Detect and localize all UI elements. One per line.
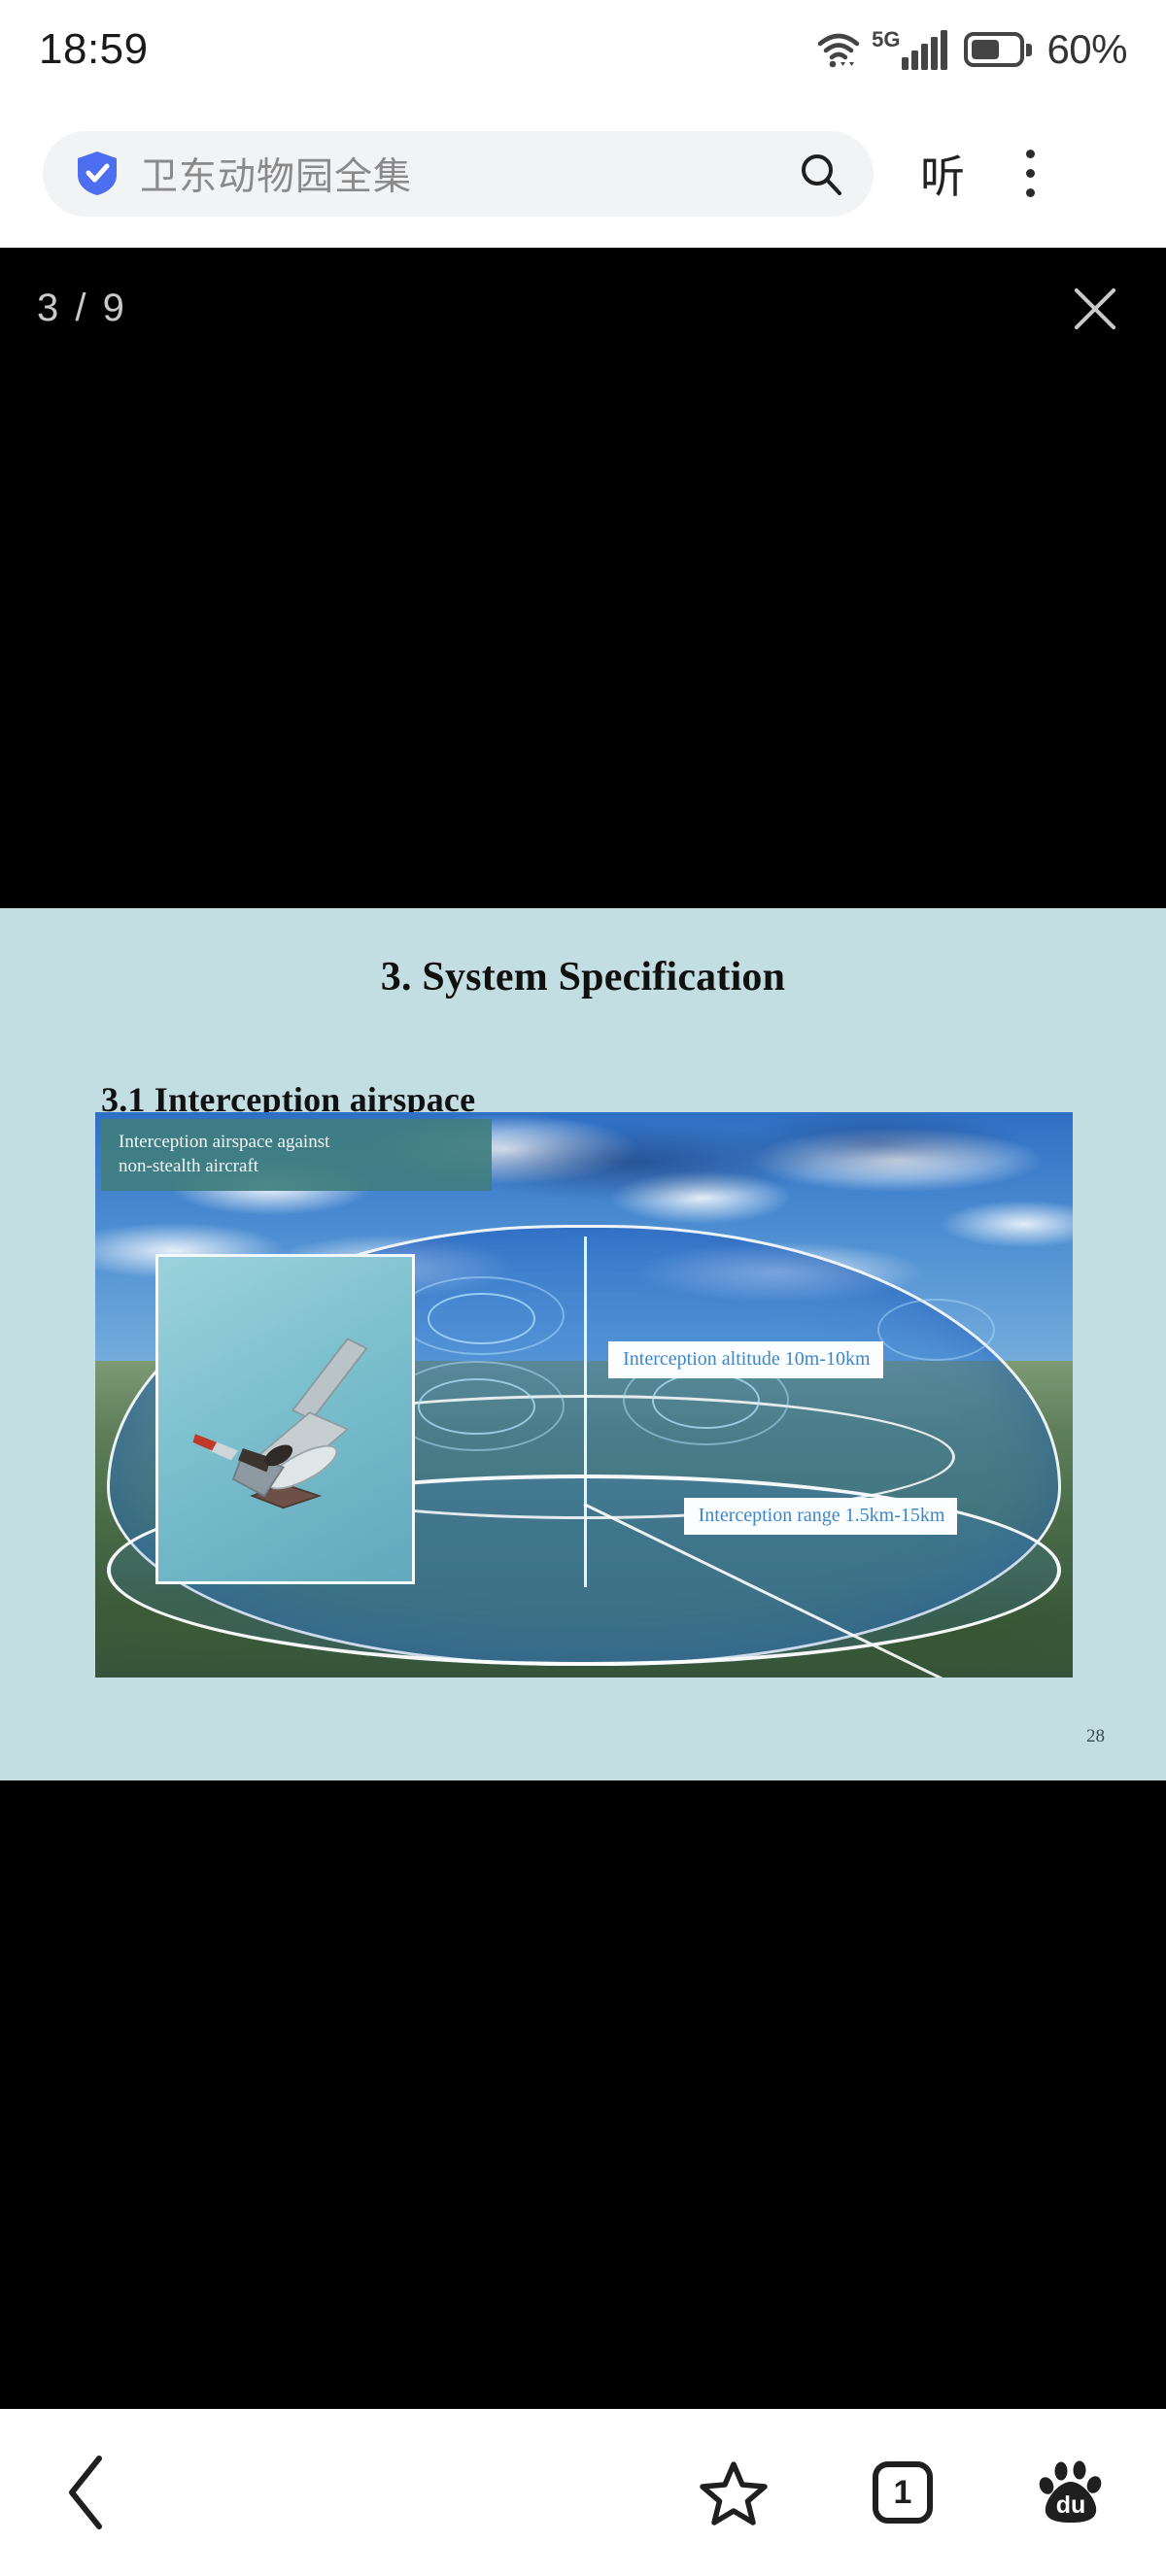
airspace-caption-line1: Interception airspace against non-stealt… (119, 1132, 329, 1176)
kebab-menu-icon[interactable] (1002, 150, 1058, 197)
slide-page-number: 28 (1086, 1726, 1105, 1747)
baidu-paw-logo-icon[interactable]: du (1038, 2458, 1106, 2526)
fighter-jet-icon (169, 1308, 407, 1536)
document-viewer[interactable]: 3 / 9 3. System Specification 3.1 Interc… (0, 248, 1166, 2409)
interception-airspace-figure: Interception airspace against non-stealt… (95, 1112, 1073, 1678)
tab-count-label: 1 (894, 2476, 912, 2509)
signal-bars-icon: 5G (872, 29, 947, 70)
wifi-icon (816, 30, 861, 69)
network-type-label: 5G (872, 29, 900, 51)
nav-actions: 1 du (700, 2458, 1106, 2526)
battery-icon (964, 32, 1032, 67)
browser-toolbar: 卫东动物园全集 听 (0, 99, 1166, 248)
listen-button[interactable]: 听 (920, 142, 965, 206)
altitude-label: Interception altitude 10m-10km (608, 1341, 882, 1378)
svg-text:du: du (1056, 2491, 1086, 2519)
bottom-navigation-bar: 1 du (0, 2409, 1166, 2576)
search-query-text[interactable]: 卫东动物园全集 (140, 147, 776, 201)
page-counter: 3 / 9 (37, 287, 127, 330)
radar-ripple (877, 1299, 995, 1361)
slide-page[interactable]: 3. System Specification 3.1 Interception… (0, 908, 1166, 1780)
status-icons: 5G 60% (816, 26, 1127, 73)
back-chevron-icon[interactable] (60, 2453, 113, 2532)
range-label: Interception range 1.5km-15km (684, 1498, 958, 1535)
status-bar: 18:59 5G 60% (0, 0, 1166, 99)
fighter-jet-inset (155, 1254, 415, 1584)
status-time: 18:59 (39, 25, 149, 74)
viewer-topbar: 3 / 9 (0, 248, 1166, 369)
tab-count-icon[interactable]: 1 (873, 2461, 933, 2524)
search-icon[interactable] (798, 151, 844, 197)
page-title: 3. System Specification (0, 954, 1166, 1000)
altitude-axis-line (584, 1237, 587, 1587)
search-input[interactable]: 卫东动物园全集 (43, 131, 874, 217)
radar-ripple (389, 1361, 565, 1451)
star-icon[interactable] (700, 2458, 768, 2526)
radar-ripple (398, 1276, 565, 1355)
airspace-caption-label: Interception airspace against non-stealt… (101, 1119, 492, 1191)
signal-bars (902, 31, 947, 70)
close-icon[interactable] (1067, 281, 1123, 337)
shield-check-icon (76, 151, 119, 196)
battery-percent-label: 60% (1046, 26, 1127, 73)
